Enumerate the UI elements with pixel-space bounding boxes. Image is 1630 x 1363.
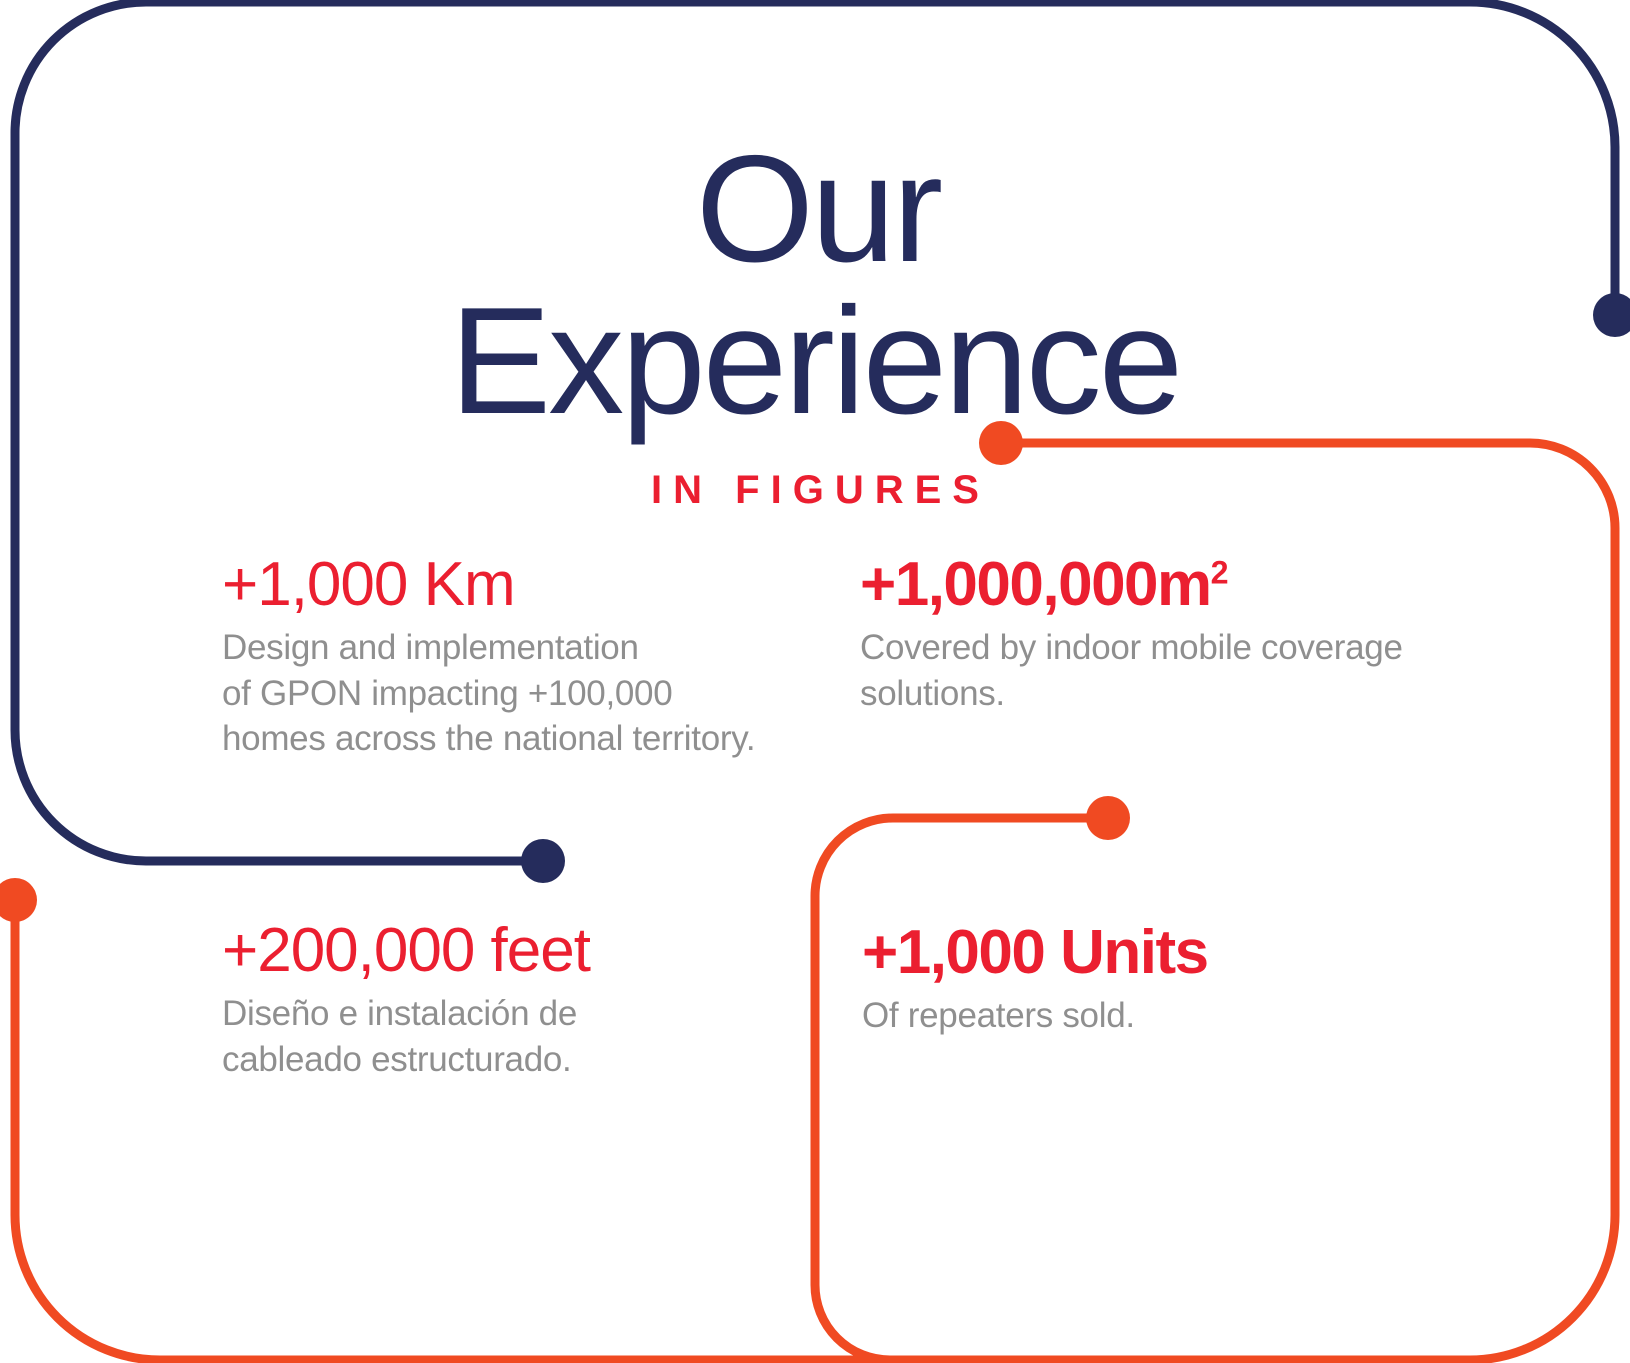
stat-value-m2: +1,000,000m2 (860, 552, 1500, 617)
stat-value-m2-superscript: 2 (1211, 554, 1227, 590)
orange-connector-path-inner (815, 818, 1108, 1360)
stat-value-feet: +200,000 feet (222, 918, 842, 983)
stat-block-m2: +1,000,000m2 Covered by indoor mobile co… (860, 552, 1500, 716)
stat-value-m2-number: +1,000,000m (860, 550, 1211, 619)
orange-dot-units (1086, 796, 1130, 840)
stat-block-units: +1,000 Units Of repeaters sold. (862, 920, 1462, 1039)
page-title-line-2: Experience (0, 292, 1630, 432)
stat-description-km: Design and implementation of GPON impact… (222, 625, 842, 762)
stat-description-units: Of repeaters sold. (862, 993, 1462, 1039)
stat-value-units: +1,000 Units (862, 920, 1462, 985)
navy-dot-bottom (521, 839, 565, 883)
page-title-line-1: Our (6, 140, 1630, 280)
heading-block: Our Experience IN FIGURES (0, 140, 1630, 513)
orange-dot-left (0, 878, 37, 922)
stat-description-m2: Covered by indoor mobile coverage soluti… (860, 625, 1500, 716)
stat-description-feet: Diseño e instalación de cableado estruct… (222, 991, 842, 1082)
stat-block-feet: +200,000 feet Diseño e instalación de ca… (222, 918, 842, 1082)
infographic-canvas: Our Experience IN FIGURES +1,000 Km Desi… (0, 0, 1630, 1363)
stat-block-km: +1,000 Km Design and implementation of G… (222, 552, 842, 762)
stat-value-km: +1,000 Km (222, 552, 842, 617)
page-subtitle: IN FIGURES (0, 468, 1630, 513)
